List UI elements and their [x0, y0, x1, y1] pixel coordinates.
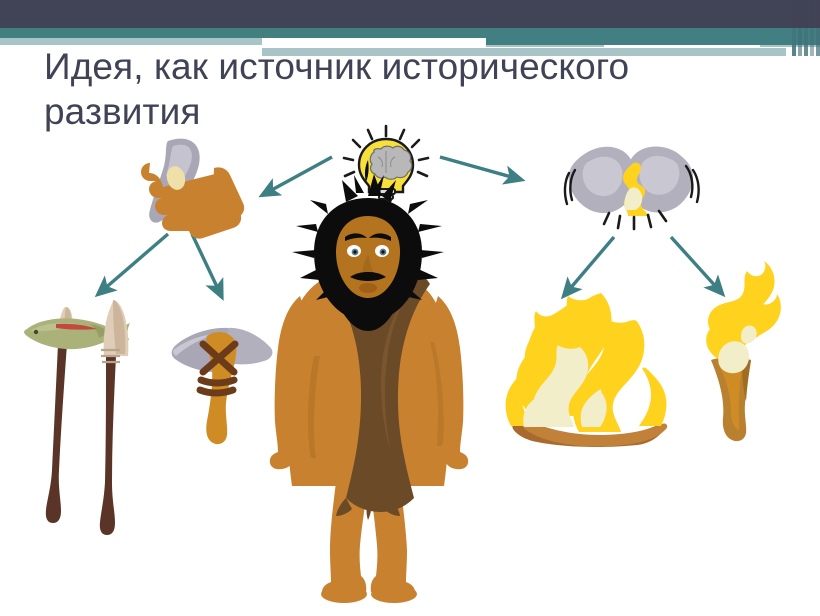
header-stripe-teal-3	[804, 28, 808, 56]
arrow-group	[103, 157, 718, 291]
lightbulb-brain-icon	[344, 126, 428, 207]
header-band-dark	[0, 0, 820, 28]
header-stripe-teal-1	[792, 28, 796, 56]
arrow-idea-to-stone-tool	[268, 157, 332, 192]
hand-holding-stone-blade-icon	[141, 139, 244, 239]
arrow-fire-to-torch	[671, 237, 718, 289]
header-band-teal-right	[486, 28, 820, 45]
stone-axe-icon	[172, 328, 273, 444]
arrow-stone-tool-to-axe	[192, 234, 219, 291]
campfire-icon	[506, 293, 668, 447]
arrow-idea-to-fire-making	[440, 157, 515, 178]
header-stripe-teal-5	[816, 28, 820, 56]
caveman-figure	[270, 160, 468, 603]
spears-with-fish-icon	[24, 300, 130, 535]
header-stripe-teal-2	[798, 28, 802, 56]
header-stripe-teal-4	[810, 28, 814, 56]
slide: Идея, как источник исторического развити…	[0, 0, 820, 616]
arrow-fire-to-campfire	[568, 237, 614, 291]
arrow-stone-tool-to-spears	[103, 234, 168, 290]
slide-title: Идея, как источник исторического развити…	[44, 44, 764, 134]
torch-icon	[706, 261, 781, 441]
header-band-teal-left	[0, 28, 486, 38]
flint-stones-spark-icon	[565, 146, 699, 229]
